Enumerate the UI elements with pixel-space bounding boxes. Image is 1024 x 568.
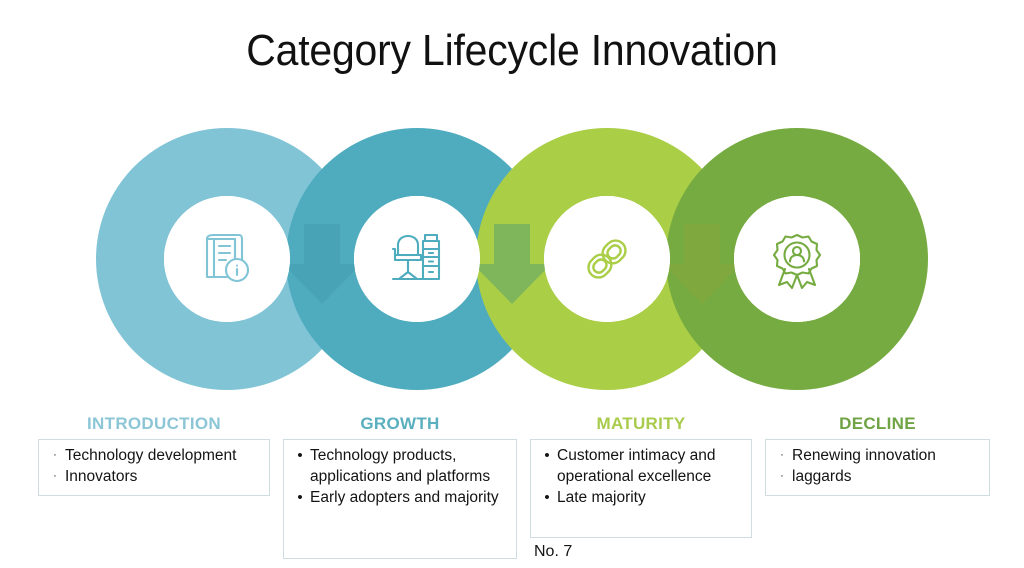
stage-column-growth: GROWTH • Technology products, applicatio… — [283, 414, 517, 559]
stage-box-decline: · Renewing innovation · laggards — [765, 439, 990, 496]
list-item-label: Customer intimacy and operational excell… — [557, 445, 745, 487]
list-item-label: Renewing innovation — [792, 445, 983, 466]
stage-heading-introduction: INTRODUCTION — [38, 414, 270, 434]
bullet-list-maturity: • Customer intimacy and operational exce… — [537, 445, 745, 508]
bullet-list-decline: · Renewing innovation · laggards — [772, 445, 983, 487]
list-item-label: Technology products, applications and pl… — [310, 445, 510, 487]
bullet-list-introduction: · Technology development · Innovators — [45, 445, 263, 487]
bullet-icon: • — [290, 445, 310, 466]
bullet-list-growth: • Technology products, applications and … — [290, 445, 510, 508]
bullet-icon: • — [290, 487, 310, 508]
list-item: · Innovators — [45, 466, 263, 487]
stage-box-growth: • Technology products, applications and … — [283, 439, 517, 559]
stage-box-introduction: · Technology development · Innovators — [38, 439, 270, 496]
list-item: • Customer intimacy and operational exce… — [537, 445, 745, 487]
lifecycle-diagram — [96, 128, 936, 390]
stage-heading-growth: GROWTH — [283, 414, 517, 434]
list-item-label: laggards — [792, 466, 983, 487]
bullet-icon: • — [537, 487, 557, 508]
stage-column-maturity: MATURITY • Customer intimacy and operati… — [530, 414, 752, 538]
list-item-label: Innovators — [65, 466, 263, 487]
page-title: Category Lifecycle Innovation — [36, 26, 988, 76]
stage-column-introduction: INTRODUCTION · Technology development · … — [38, 414, 270, 496]
list-item-label: Early adopters and majority — [310, 487, 510, 508]
stage-column-decline: DECLINE · Renewing innovation · laggards — [765, 414, 990, 496]
bullet-icon: · — [772, 445, 792, 466]
bullet-icon: • — [537, 445, 557, 466]
bullet-icon: · — [45, 445, 65, 466]
list-item-label: Late majority — [557, 487, 745, 508]
stage-heading-maturity: MATURITY — [530, 414, 752, 434]
list-item: · laggards — [772, 466, 983, 487]
bullet-icon: · — [45, 466, 65, 487]
stage-box-maturity: • Customer intimacy and operational exce… — [530, 439, 752, 538]
stage-heading-decline: DECLINE — [765, 414, 990, 434]
bullet-icon: · — [772, 466, 792, 487]
list-item: · Renewing innovation — [772, 445, 983, 466]
list-item: • Late majority — [537, 487, 745, 508]
list-item: · Technology development — [45, 445, 263, 466]
list-item: • Early adopters and majority — [290, 487, 510, 508]
page-number: No. 7 — [534, 543, 572, 561]
list-item-label: Technology development — [65, 445, 263, 466]
list-item: • Technology products, applications and … — [290, 445, 510, 487]
